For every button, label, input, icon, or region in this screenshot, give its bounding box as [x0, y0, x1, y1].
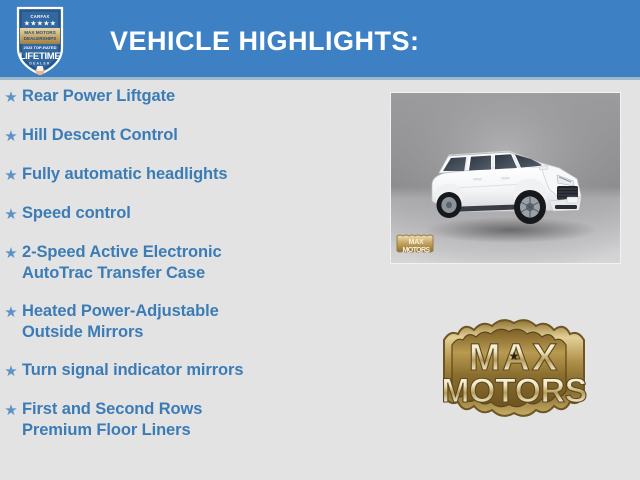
header-divider: [0, 77, 640, 80]
svg-text:DEALERSHIPS: DEALERSHIPS: [24, 36, 57, 41]
list-item: ★ 2-Speed Active Electronic AutoTrac Tra…: [0, 242, 375, 284]
svg-text:MOTORS: MOTORS: [403, 247, 431, 254]
star-bullet-icon: ★: [0, 203, 22, 225]
highlight-line-2: AutoTrac Transfer Case: [22, 263, 222, 284]
highlight-text: Hill Descent Control: [22, 125, 178, 146]
svg-text:★: ★: [509, 349, 520, 363]
vehicle-photo[interactable]: MAX MOTORS: [390, 92, 621, 264]
highlight-text: Turn signal indicator mirrors: [22, 360, 243, 381]
star-bullet-icon: ★: [0, 399, 22, 421]
highlight-line-1: Fully automatic headlights: [22, 165, 228, 183]
star-bullet-icon: ★: [0, 242, 22, 264]
highlight-line-2: Outside Mirrors: [22, 322, 219, 343]
svg-text:CARFAX: CARFAX: [30, 14, 49, 19]
svg-text:★★★★★: ★★★★★: [24, 20, 56, 28]
star-bullet-icon: ★: [0, 86, 22, 108]
star-bullet-icon: ★: [0, 125, 22, 147]
max-motors-watermark-icon: MAX MOTORS: [394, 232, 438, 259]
max-motors-logo: MAX ★ MOTORS: [430, 318, 598, 418]
svg-text:LIFETIME: LIFETIME: [20, 51, 61, 62]
highlight-line-1: Rear Power Liftgate: [22, 87, 175, 105]
svg-text:MAX MOTORS: MAX MOTORS: [24, 30, 56, 35]
list-item: ★ Speed control: [0, 203, 375, 225]
star-bullet-icon: ★: [0, 301, 22, 323]
svg-text:MOTORS: MOTORS: [441, 372, 587, 410]
highlight-line-1: Speed control: [22, 204, 131, 222]
highlight-text: First and Second Rows Premium Floor Line…: [22, 399, 202, 441]
list-item: ★ Rear Power Liftgate: [0, 86, 375, 108]
list-item: ★ Hill Descent Control: [0, 125, 375, 147]
highlight-line-1: Heated Power-Adjustable: [22, 302, 219, 320]
highlight-line-1: Turn signal indicator mirrors: [22, 361, 243, 379]
star-bullet-icon: ★: [0, 360, 22, 382]
highlight-line-1: Hill Descent Control: [22, 126, 178, 144]
page-title: VEHICLE HIGHLIGHTS:: [110, 26, 420, 57]
carfax-lifetime-dealer-badge: CARFAX ★★★★★ MAX MOTORS DEALERSHIPS 2023…: [14, 4, 66, 76]
highlight-text: Speed control: [22, 203, 131, 224]
list-item: ★ Turn signal indicator mirrors: [0, 360, 375, 382]
highlight-line-1: First and Second Rows: [22, 400, 202, 418]
list-item: ★ Fully automatic headlights: [0, 164, 375, 186]
svg-text:MAX: MAX: [409, 239, 424, 246]
list-item: ★ First and Second Rows Premium Floor Li…: [0, 399, 375, 441]
highlight-text: 2-Speed Active Electronic AutoTrac Trans…: [22, 242, 222, 284]
star-bullet-icon: ★: [0, 164, 22, 186]
highlight-text: Heated Power-Adjustable Outside Mirrors: [22, 301, 219, 343]
highlight-text: Fully automatic headlights: [22, 164, 228, 185]
svg-text:2023 TOP-RATED: 2023 TOP-RATED: [24, 45, 57, 50]
svg-text:DEALER: DEALER: [29, 62, 50, 66]
list-item: ★ Heated Power-Adjustable Outside Mirror…: [0, 301, 375, 343]
highlight-text: Rear Power Liftgate: [22, 86, 175, 107]
vehicle-highlights-list: ★ Rear Power Liftgate ★ Hill Descent Con…: [0, 86, 375, 458]
highlight-line-2: Premium Floor Liners: [22, 420, 202, 441]
highlight-line-1: 2-Speed Active Electronic: [22, 243, 222, 261]
